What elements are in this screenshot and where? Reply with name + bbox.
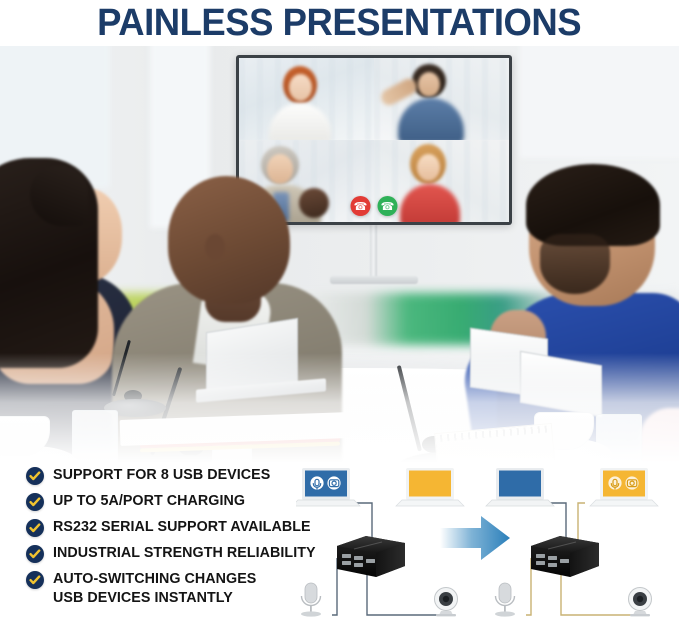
diagram-left-scenario bbox=[296, 468, 464, 617]
check-icon bbox=[26, 519, 44, 537]
usb-switch-box-right bbox=[531, 536, 599, 577]
microphone-left bbox=[301, 583, 321, 617]
hangup-icon: ☎ bbox=[351, 196, 371, 216]
cable-switch-to-webcam bbox=[561, 574, 633, 615]
cable-switch-to-webcam bbox=[367, 574, 439, 615]
tv-neck bbox=[370, 225, 377, 279]
transition-arrow bbox=[440, 516, 510, 560]
video-conference-tv: ☎ ☎ bbox=[236, 55, 512, 225]
laptop-blue-left bbox=[296, 468, 360, 506]
webcam-left bbox=[435, 588, 458, 617]
check-icon bbox=[26, 571, 44, 589]
feature-label: INDUSTRIAL STRENGTH RELIABILITY bbox=[53, 544, 316, 563]
tv-base bbox=[330, 276, 418, 284]
cable-switch-to-mic bbox=[332, 558, 337, 615]
usb-auto-switching-diagram bbox=[296, 462, 679, 622]
title-bar: PAINLESS PRESENTATIONS bbox=[0, 0, 679, 46]
feature-label: SUPPORT FOR 8 USB DEVICES bbox=[53, 466, 270, 485]
window-panel-right bbox=[520, 38, 679, 158]
feature-label: RS232 SERIAL SUPPORT AVAILABLE bbox=[53, 518, 311, 537]
microphone-right bbox=[495, 583, 515, 617]
answer-call-icon: ☎ bbox=[378, 196, 398, 216]
webcam-right bbox=[629, 588, 652, 617]
laptop-screen bbox=[409, 471, 451, 497]
feature-list: SUPPORT FOR 8 USB DEVICES UP TO 5A/PORT … bbox=[26, 466, 316, 608]
laptop-screen bbox=[499, 471, 541, 497]
vc-participant-2 bbox=[374, 58, 509, 140]
feature-label: UP TO 5A/PORT CHARGING bbox=[53, 492, 245, 511]
check-icon bbox=[26, 545, 44, 563]
cable-switch-to-mic bbox=[526, 558, 531, 615]
list-item: SUPPORT FOR 8 USB DEVICES bbox=[26, 466, 316, 485]
list-item: INDUSTRIAL STRENGTH RELIABILITY bbox=[26, 544, 316, 563]
page-title: PAINLESS PRESENTATIONS bbox=[97, 2, 581, 45]
list-item: UP TO 5A/PORT CHARGING bbox=[26, 492, 316, 511]
vc-participant-1 bbox=[239, 58, 374, 140]
conference-room-photo: ☎ ☎ bbox=[0, 38, 679, 463]
product-marketing-image: PAINLESS PRESENTATIONS bbox=[0, 0, 679, 622]
list-item: AUTO-SWITCHING CHANGES USB DEVICES INSTA… bbox=[26, 570, 316, 608]
photo-bottom-fade bbox=[0, 353, 679, 463]
diagram-right-scenario bbox=[486, 468, 658, 617]
laptop-orange-left bbox=[396, 468, 464, 506]
laptop-blue-right bbox=[486, 468, 554, 506]
check-icon bbox=[26, 493, 44, 511]
check-icon bbox=[26, 467, 44, 485]
usb-switch-box-left bbox=[337, 536, 405, 577]
list-item: RS232 SERIAL SUPPORT AVAILABLE bbox=[26, 518, 316, 537]
feature-label: AUTO-SWITCHING CHANGES USB DEVICES INSTA… bbox=[53, 570, 256, 608]
call-control-buttons: ☎ ☎ bbox=[351, 196, 398, 216]
laptop-orange-right bbox=[590, 468, 658, 506]
tv-screen: ☎ ☎ bbox=[239, 58, 509, 222]
